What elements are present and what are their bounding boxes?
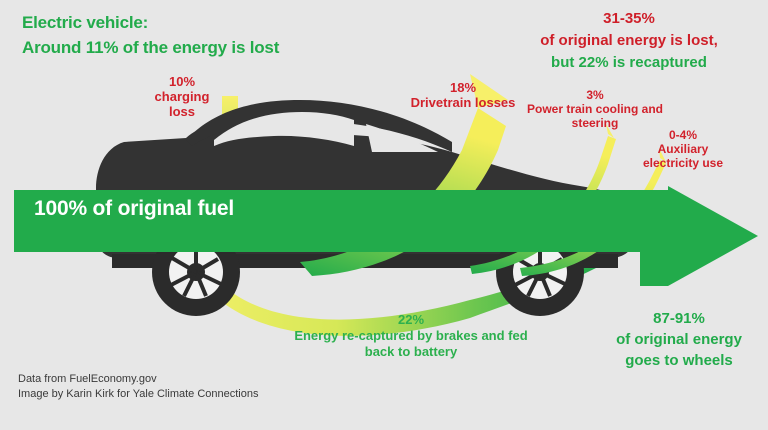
credits-data-source: Data from FuelEconomy.gov	[18, 372, 258, 387]
title-line-2: Around 11% of the energy is lost	[22, 35, 279, 60]
powertrain-percent: 3%	[512, 88, 678, 102]
charging-loss-line-1: charging	[134, 89, 230, 104]
headline-recaptured-text: but 22% is recaptured	[498, 52, 760, 74]
label-powertrain-cooling: 3% Power train cooling and steering	[512, 88, 678, 130]
charging-loss-percent: 10%	[134, 74, 230, 89]
headline-summary: 31-35% of original energy is lost, but 2…	[498, 8, 760, 74]
headline-percent: 31-35%	[498, 8, 760, 30]
credits: Data from FuelEconomy.gov Image by Karin…	[18, 372, 258, 402]
label-recaptured-energy: 22% Energy re-captured by brakes and fed…	[282, 312, 540, 360]
page-title: Electric vehicle: Around 11% of the ener…	[22, 10, 279, 60]
arrow-input-label: 100% of original fuel	[34, 197, 234, 221]
infographic-canvas: Electric vehicle: Around 11% of the ener…	[0, 0, 768, 430]
charging-loss-line-2: loss	[134, 104, 230, 119]
wheels-line-1: of original energy	[590, 329, 768, 350]
powertrain-line-1: Power train cooling and	[512, 102, 678, 116]
title-line-1: Electric vehicle:	[22, 13, 148, 32]
recapture-line-2: back to battery	[282, 344, 540, 360]
drivetrain-percent: 18%	[396, 80, 530, 95]
wheels-line-2: goes to wheels	[590, 350, 768, 371]
credits-image-author: Image by Karin Kirk for Yale Climate Con…	[18, 387, 258, 402]
drivetrain-text: Drivetrain losses	[396, 95, 530, 110]
recapture-line-1: Energy re-captured by brakes and fed	[282, 328, 540, 344]
auxiliary-percent: 0-4%	[624, 128, 742, 142]
auxiliary-line-2: electricity use	[624, 156, 742, 170]
auxiliary-line-1: Auxiliary	[624, 142, 742, 156]
label-drivetrain-losses: 18% Drivetrain losses	[396, 80, 530, 110]
label-energy-to-wheels: 87-91% of original energy goes to wheels	[590, 308, 768, 371]
label-charging-loss: 10% charging loss	[134, 74, 230, 119]
label-auxiliary-electricity: 0-4% Auxiliary electricity use	[624, 128, 742, 170]
headline-lost-text: of original energy is lost,	[498, 30, 760, 52]
recapture-percent: 22%	[282, 312, 540, 328]
wheels-percent: 87-91%	[590, 308, 768, 329]
